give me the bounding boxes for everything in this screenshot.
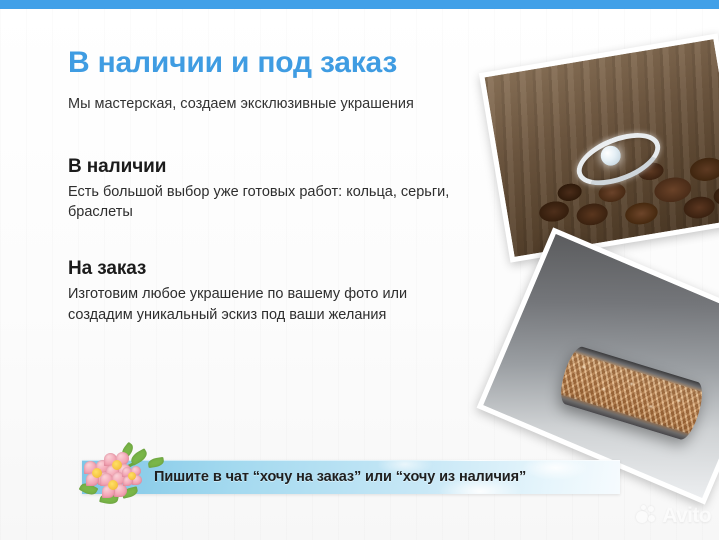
pink-flowers-icon: [70, 444, 180, 510]
section-body-in-stock: Есть большой выбор уже готовых работ: ко…: [68, 182, 468, 223]
photo-inner: [483, 234, 719, 498]
section-title-custom-order: На заказ: [68, 258, 488, 280]
avito-watermark: Avito: [636, 504, 711, 528]
coffee-beans-scene: [485, 39, 719, 257]
rose-gold-ring-scene: [483, 234, 719, 498]
section-na-zakaz: На заказ Изготовим любое украшение по ва…: [68, 258, 488, 325]
slide-root: В наличии и под заказ Мы мастерская, соз…: [0, 0, 719, 540]
chat-callout-banner: Пишите в чат “хочу на заказ” или “хочу и…: [82, 460, 620, 494]
page-title: В наличии и под заказ: [68, 46, 488, 79]
avito-wordmark: Avito: [662, 504, 711, 528]
text-column: В наличии и под заказ Мы мастерская, соз…: [68, 46, 488, 325]
top-accent-bar: [0, 0, 719, 9]
diamond-ring-graphic: [564, 111, 655, 186]
flower-bloom: [122, 466, 142, 486]
leaf-shape: [147, 457, 164, 468]
callout-text: Пишите в чат “хочу на заказ” или “хочу и…: [154, 460, 602, 494]
avito-logo-icon: [636, 505, 658, 527]
photo-diamond-ring-on-coffee-beans: [479, 33, 719, 262]
section-title-in-stock: В наличии: [68, 156, 488, 178]
section-v-nalichii: В наличии Есть большой выбор уже готовых…: [68, 156, 488, 223]
ring-texture-pattern: [558, 352, 705, 434]
subtitle-text: Мы мастерская, создаем эксклюзивные укра…: [68, 95, 488, 114]
section-body-custom-order: Изготовим любое украшение по вашему фото…: [68, 284, 468, 325]
rose-gold-band-shape: [556, 344, 707, 442]
photo-inner: [485, 39, 719, 257]
